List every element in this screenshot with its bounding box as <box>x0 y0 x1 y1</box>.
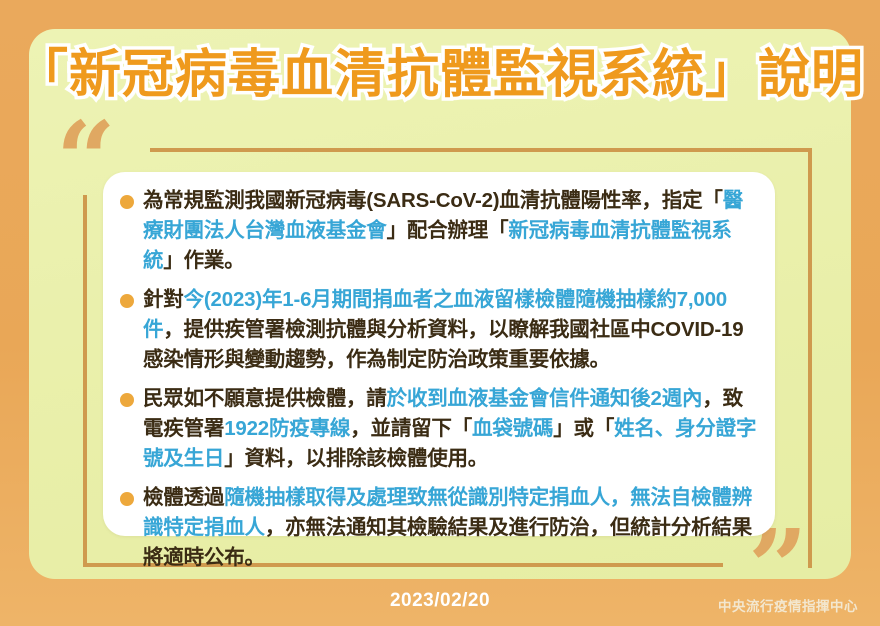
bullet-dot-icon <box>120 393 134 407</box>
bullet-text-highlight: 於收到血液基金會信件通知後2週內 <box>387 387 703 410</box>
bullet-item: 民眾如不願意提供檢體，請於收到血液基金會信件通知後2週內，致電疾管署1922防疫… <box>117 384 759 474</box>
bullet-text: 針對 <box>143 288 184 311</box>
bullet-dot-icon <box>120 195 134 209</box>
bullet-item: 為常規監測我國新冠病毒(SARS-CoV-2)血清抗體陽性率，指定「醫療財團法人… <box>117 186 759 276</box>
bullet-text: 」資料，以排除該檢體使用。 <box>224 447 488 470</box>
bullet-text: ，提供疾管署檢測抗體與分析資料，以瞭解我國社區中COVID-19感染情形與變動趨… <box>143 318 743 371</box>
bullet-item: 檢體透過隨機抽樣取得及處理致無從識別特定捐血人，無法自檢體辨識特定捐血人，亦無法… <box>117 483 759 573</box>
bullet-text-highlight: 1922防疫專線 <box>224 417 350 440</box>
bullet-text: 」配合辦理「 <box>387 219 509 242</box>
content-card: 為常規監測我國新冠病毒(SARS-CoV-2)血清抗體陽性率，指定「醫療財團法人… <box>103 172 775 536</box>
bullet-text: 」作業。 <box>163 249 244 272</box>
bullet-dot-icon <box>120 294 134 308</box>
bullet-text: 檢體透過 <box>143 486 224 509</box>
bullet-list: 為常規監測我國新冠病毒(SARS-CoV-2)血清抗體陽性率，指定「醫療財團法人… <box>117 186 759 573</box>
poster-root: 「新冠病毒血清抗體監視系統」說明 “ ” 為常規監測我國新冠病毒(SARS-Co… <box>0 0 880 626</box>
bullet-text: 為常規監測我國新冠病毒(SARS-CoV-2)血清抗體陽性率，指定「 <box>143 189 723 212</box>
bullet-item: 針對今(2023)年1-6月期間捐血者之血液留樣檢體隨機抽樣約7,000件，提供… <box>117 285 759 375</box>
page-title: 「新冠病毒血清抗體監視系統」說明 <box>0 44 880 106</box>
bullet-text-highlight: 血袋號碼 <box>472 417 553 440</box>
bullet-text: 民眾如不願意提供檢體，請 <box>143 387 387 410</box>
footer-organization: 中央流行疫情指揮中心 <box>718 595 858 615</box>
bullet-text: ，並請留下「 <box>350 417 472 440</box>
bullet-text: 」或「 <box>553 417 614 440</box>
bullet-dot-icon <box>120 492 134 506</box>
